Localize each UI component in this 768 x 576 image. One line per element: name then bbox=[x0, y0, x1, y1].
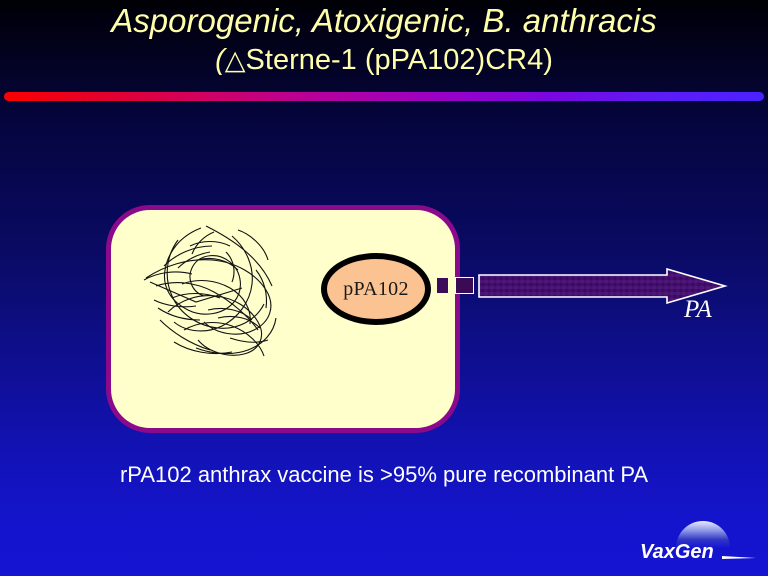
logo-swoosh-icon bbox=[722, 556, 756, 559]
plasmid-ellipse: pPA102 bbox=[321, 253, 431, 325]
gene-segment-2 bbox=[455, 277, 474, 294]
pa-product-label: PA bbox=[684, 296, 712, 324]
vaxgen-logo: VaxGen bbox=[638, 518, 758, 570]
gene-segment-1 bbox=[437, 278, 448, 293]
vaxgen-wordmark: VaxGen bbox=[640, 541, 714, 563]
title-open-paren: ( bbox=[215, 44, 225, 76]
title-line-2: (△Sterne-1 (pPA102)CR4) bbox=[0, 46, 768, 75]
title-line-1: Asporogenic, Atoxigenic, B. anthracis bbox=[0, 4, 768, 37]
plasmid-label: pPA102 bbox=[343, 278, 409, 301]
delta-triangle-icon: △ bbox=[225, 45, 246, 75]
bacterial-cell bbox=[106, 205, 460, 433]
slide-title: Asporogenic, Atoxigenic, B. anthracis (△… bbox=[0, 4, 768, 75]
slide-canvas: Asporogenic, Atoxigenic, B. anthracis (△… bbox=[0, 0, 768, 576]
title-line-2-rest: Sterne-1 (pPA102)CR4) bbox=[246, 44, 553, 76]
slide-caption: rPA102 anthrax vaccine is >95% pure reco… bbox=[0, 462, 768, 488]
gradient-divider bbox=[4, 92, 764, 101]
